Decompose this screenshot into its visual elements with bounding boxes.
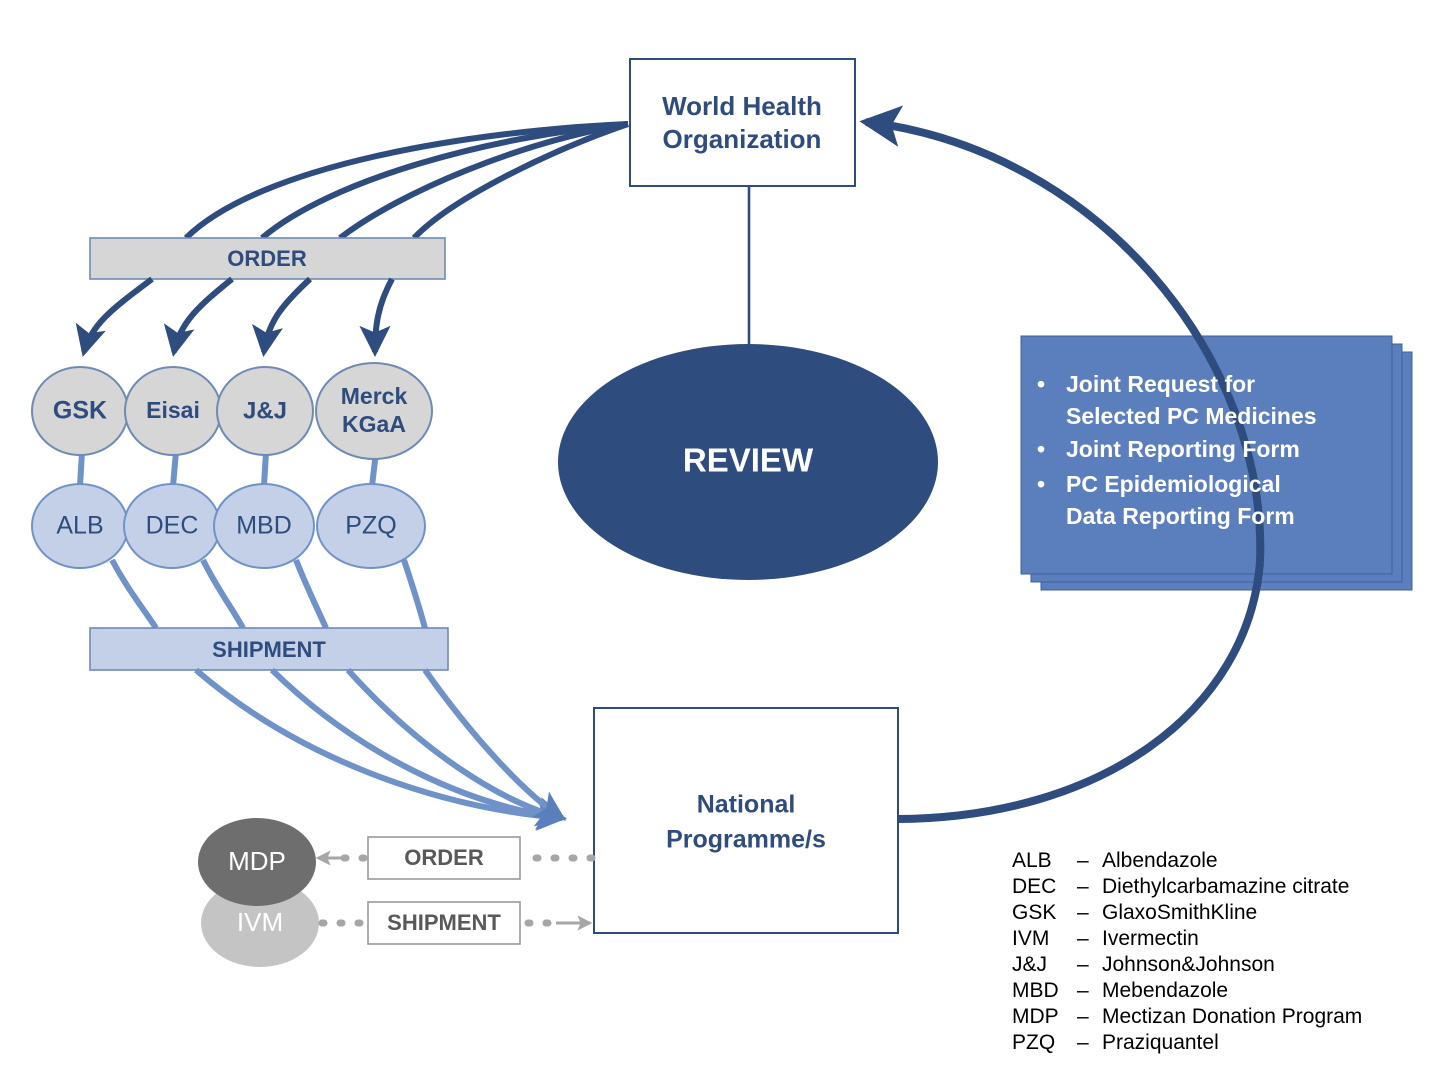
donation-circle-mdp[interactable]: MDP [198,818,316,906]
link-gsk-alb [80,452,82,486]
legend-separator: – [1077,875,1089,898]
legend-full: Ivermectin [1102,927,1199,950]
arc-np-to-docs [898,562,1260,819]
arrow-order-merck [375,279,392,352]
arrow-order-gsk [84,279,152,352]
connector-manufacturer-to-medicine [80,452,376,486]
legend-abbr: IVM [1012,927,1049,950]
donation-label-mdp: MDP [228,846,286,876]
connector-medicine-to-shipment [112,560,425,628]
medicine-node-alb[interactable]: ALB [32,484,128,568]
medicine-nodes: ALB DEC MBD PZQ [32,484,425,568]
legend-abbr: ALB [1012,849,1052,872]
legend-separator: – [1077,1005,1089,1028]
legend-full: Mectizan Donation Program [1102,1005,1362,1028]
connector-who-to-order-arcs [186,124,628,238]
manufacturer-label-eisai: Eisai [146,397,200,423]
legend-separator: – [1077,927,1089,950]
medicine-label-mbd: MBD [236,512,292,540]
manufacturer-label-merck-2: KGaA [342,411,406,437]
national-programme-label-line1: National [697,791,796,819]
legend-full: Praziquantel [1102,1031,1219,1054]
documents-bullet-1-line2: Selected PC Medicines [1066,403,1317,429]
medicine-node-dec[interactable]: DEC [124,484,220,568]
shipment-box-bottom-label: SHIPMENT [387,910,501,935]
shipment-bar-label: SHIPMENT [212,637,326,662]
legend-full: Albendazole [1102,849,1218,872]
national-programme-label-line2: Programme/s [666,826,826,854]
legend-full: Diethylcarbamazine citrate [1102,875,1349,898]
shipment-bar: SHIPMENT [90,628,448,670]
manufacturer-nodes: GSK Eisai J&J Merck KGaA [32,363,432,459]
arrow-order-jnj [264,279,310,352]
national-programme-node[interactable]: National Programme/s [594,708,898,933]
order-box-bottom-label: ORDER [404,845,484,870]
legend-abbr: GSK [1012,901,1056,924]
medicine-node-pzq[interactable]: PZQ [317,484,425,568]
legend-row: MBD – Mebendazole [1012,979,1228,1002]
documents-bullet-2-line1: Joint Reporting Form [1066,436,1300,462]
documents-bullet-3-line1: PC Epidemiological [1066,471,1281,497]
medicine-label-pzq: PZQ [345,512,396,540]
link-mbd-shipment [296,560,326,628]
review-label: REVIEW [683,442,814,479]
order-bar-label: ORDER [227,246,307,271]
legend-row: MDP – Mectizan Donation Program [1012,1005,1362,1028]
donation-label-ivm: IVM [237,907,283,937]
review-node[interactable]: REVIEW [558,344,938,580]
documents-bullet-1-line1: Joint Request for [1066,371,1255,397]
manufacturer-node-eisai[interactable]: Eisai [125,367,221,455]
legend-abbr: J&J [1012,953,1047,976]
legend-separator: – [1077,979,1089,1002]
manufacturer-node-merck[interactable]: Merck KGaA [316,363,432,459]
order-bar: ORDER [90,238,445,279]
manufacturer-node-gsk[interactable]: GSK [32,367,128,455]
legend-row: IVM – Ivermectin [1012,927,1199,950]
shipment-box-bottom[interactable]: SHIPMENT [368,902,520,944]
legend-separator: – [1077,849,1089,872]
diagram-canvas: ORDER GSK Eisai J&J Merck KGaA [0,0,1434,1071]
documents-bullet-glyph-3: • [1037,471,1045,497]
arrow-order-eisai [174,279,232,352]
connector-shipment-to-national [196,670,562,818]
legend-abbr: MBD [1012,979,1059,1002]
legend-full: Mebendazole [1102,979,1228,1002]
legend-full: Johnson&Johnson [1102,953,1275,976]
documents-bullet-glyph-1: • [1037,371,1045,397]
link-eisai-dec [173,452,176,486]
legend-row: GSK – GlaxoSmithKline [1012,901,1257,924]
legend-row: J&J – Johnson&Johnson [1012,953,1275,976]
manufacturer-label-merck-1: Merck [341,383,408,409]
who-label-line2: Organization [663,124,822,154]
legend-separator: – [1077,901,1089,924]
legend-row: PZQ – Praziquantel [1012,1031,1219,1054]
link-alb-shipment [112,560,156,628]
manufacturer-label-jnj: J&J [243,397,287,424]
manufacturer-label-gsk: GSK [53,397,107,425]
legend-row: ALB – Albendazole [1012,849,1218,872]
donation-circles: MDP IVM [198,818,319,967]
legend-separator: – [1077,1031,1089,1054]
legend-abbr: PZQ [1012,1031,1055,1054]
medicine-label-alb: ALB [56,512,103,540]
legend: ALB – Albendazole DEC – Diethylcarbamazi… [1012,849,1362,1054]
link-jnj-mbd [264,452,266,486]
order-box-bottom[interactable]: ORDER [368,837,520,879]
medicine-node-mbd[interactable]: MBD [214,484,314,568]
legend-row: DEC – Diethylcarbamazine citrate [1012,875,1349,898]
who-node[interactable]: World Health Organization [630,59,855,186]
legend-abbr: DEC [1012,875,1056,898]
flow-diagram: ORDER GSK Eisai J&J Merck KGaA [0,0,1434,1071]
connector-order-to-manufacturers [84,279,392,352]
link-pzq-shipment [404,560,425,628]
link-dec-shipment [203,560,243,628]
documents-bullet-glyph-2: • [1037,436,1045,462]
arc-shipment-np-2 [272,670,562,818]
legend-separator: – [1077,953,1089,976]
manufacturer-node-jnj[interactable]: J&J [217,367,313,455]
documents-bullet-3-line2: Data Reporting Form [1066,503,1295,529]
legend-full: GlaxoSmithKline [1102,901,1257,924]
who-label-line1: World Health [662,91,822,121]
medicine-label-dec: DEC [146,512,199,540]
legend-abbr: MDP [1012,1005,1059,1028]
